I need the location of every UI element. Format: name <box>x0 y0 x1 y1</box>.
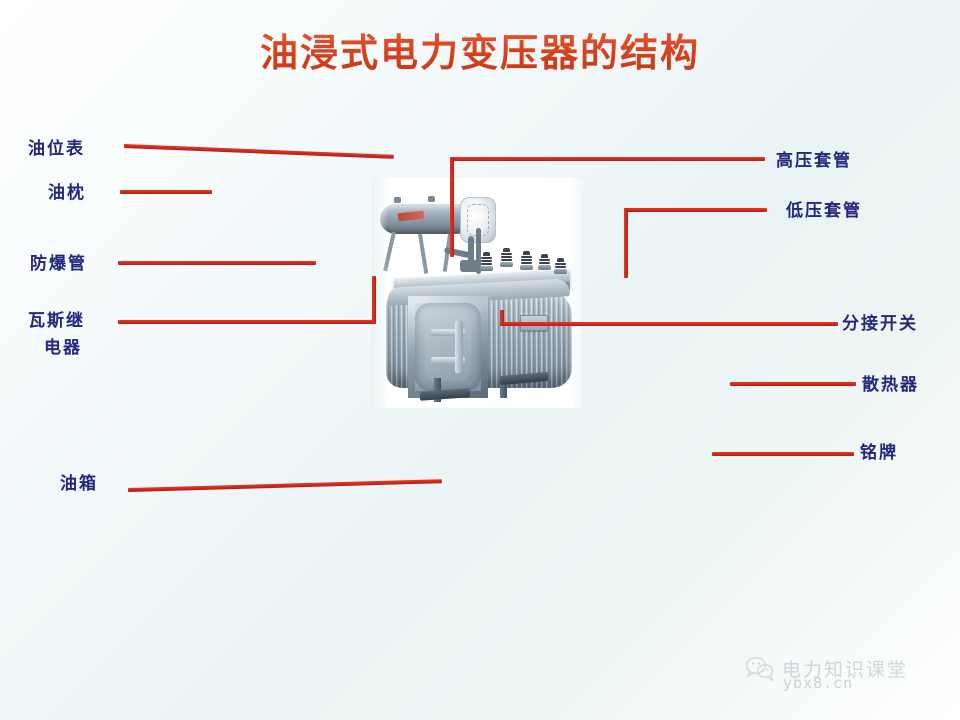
slide-canvas: 油浸式电力变压器的结构 <box>0 0 960 720</box>
bushing-5 <box>556 258 565 274</box>
tank-core-inner <box>425 313 471 381</box>
photo-edge-fade-right <box>568 178 582 408</box>
leader-explosion-vent <box>118 261 316 265</box>
label-explosion-vent: 防爆管 <box>30 253 87 276</box>
core-center-divider <box>455 321 463 373</box>
label-oil-tank: 油箱 <box>60 473 98 496</box>
label-buchholz-relay-line2: 电器 <box>44 337 82 360</box>
leader-conservator <box>120 190 212 194</box>
label-hv-bushing: 高压套管 <box>776 150 852 173</box>
bushing-4 <box>540 254 549 270</box>
watermark-site: ybx8.cn <box>783 674 853 692</box>
watermark: 电力知识课堂 ybx8.cn <box>745 655 908 682</box>
leader-lv-bushing-vertical <box>624 208 628 278</box>
label-tap-changer: 分接开关 <box>842 313 918 336</box>
wechat-icon <box>745 656 775 681</box>
label-radiator: 散热器 <box>862 374 919 397</box>
conservator-bracket-mid <box>418 234 428 274</box>
label-lv-bushing: 低压套管 <box>786 200 862 223</box>
leader-oil-level-gauge <box>124 144 394 159</box>
leader-radiator <box>730 382 856 386</box>
page-title: 油浸式电力变压器的结构 <box>0 22 960 77</box>
leader-oil-tank <box>128 479 442 492</box>
leader-lv-bushing-horizontal <box>624 208 767 212</box>
conservator-fitting-a <box>394 197 401 203</box>
bushing-1 <box>482 252 491 271</box>
conservator-fitting-b <box>428 196 435 202</box>
leader-hv-bushing-vertical <box>450 157 454 257</box>
transformer-photo <box>372 178 582 408</box>
leader-buchholz-horizontal <box>118 320 376 324</box>
leader-buchholz-vertical <box>372 276 376 324</box>
leader-nameplate <box>712 452 854 456</box>
leader-tap-changer-horizontal <box>500 322 838 326</box>
label-oil-level-gauge: 油位表 <box>28 138 85 161</box>
label-conservator: 油枕 <box>48 182 86 205</box>
leader-tap-changer-stub <box>500 310 504 324</box>
bushing-3 <box>522 251 531 270</box>
tank-core-frame <box>408 296 488 398</box>
label-buchholz-relay-line1: 瓦斯继 <box>28 310 85 333</box>
label-nameplate: 铭牌 <box>860 442 898 465</box>
leader-hv-bushing-horizontal <box>450 157 765 161</box>
bushing-2 <box>502 248 511 267</box>
conservator-tank-graphic <box>380 204 472 234</box>
